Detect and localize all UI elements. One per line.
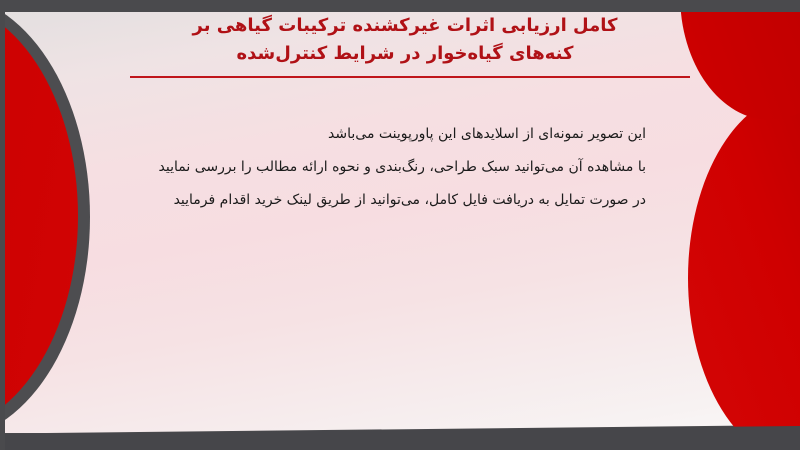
title-line-1: کامل ارزیابی اثرات غیرکشنده ترکیبات گیاه… (60, 12, 750, 40)
slide-title: کامل ارزیابی اثرات غیرکشنده ترکیبات گیاه… (60, 12, 750, 68)
body-line-3: در صورت تمایل به دریافت فایل کامل، می‌تو… (90, 184, 646, 217)
left-edge-strip (0, 0, 5, 450)
body-line-2: با مشاهده آن می‌توانید سبک طراحی، رنگ‌بن… (90, 151, 646, 184)
slide-background-panel (0, 9, 800, 433)
background-arc-8 (0, 9, 800, 433)
title-line-2: کنه‌های گیاه‌خوار در شرایط کنترل‌شده (60, 40, 750, 68)
body-line-1: این تصویر نمونه‌ای از اسلایدهای این پاور… (90, 118, 646, 151)
background-arc-texture (0, 9, 800, 433)
presentation-slide: کامل ارزیابی اثرات غیرکشنده ترکیبات گیاه… (0, 0, 800, 450)
top-dark-rail (0, 0, 800, 12)
title-underline-rule (130, 76, 690, 78)
slide-body-text: این تصویر نمونه‌ای از اسلایدهای این پاور… (90, 118, 646, 217)
